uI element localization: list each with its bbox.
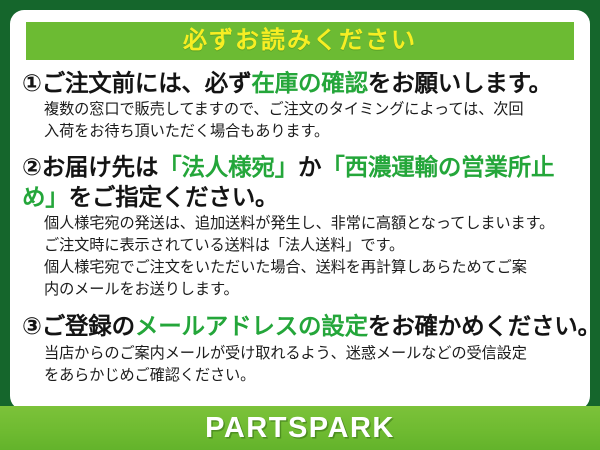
notice-item-2-heading-part-4: をご指定ください。 — [69, 184, 279, 210]
brand-footer: PARTSPARK — [0, 406, 600, 450]
notice-item-1-body: 複数の窓口で販売してますので、ご注文のタイミングによっては、次回 入荷をお待ち頂… — [44, 99, 578, 143]
notice-frame: 必ずお読みください ①ご注文前には、必ず在庫の確認をお願いします。 複数の窓口で… — [0, 0, 600, 450]
notice-item-2-body-line-1: ご注文時に表示されている送料は「法人送料」です。 — [44, 235, 578, 257]
notice-item-2-heading-part-2: か — [298, 154, 321, 180]
notice-item-3-heading-highlight: メールアドレスの設定 — [135, 313, 368, 339]
notice-title: 必ずお読みください — [183, 29, 417, 53]
notice-item-1-heading-highlight: 在庫の確認 — [251, 70, 368, 96]
notice-item-2-body-line-3: 内のメールをお送りします。 — [44, 279, 578, 301]
notice-item-2: ②お届け先は「法人様宛」か「西濃運輸の営業所止め」をご指定ください。 個人様宅宛… — [22, 152, 578, 301]
notice-item-3-heading: ③ご登録のメールアドレスの設定をお確かめください。 — [22, 311, 578, 341]
notice-item-3-body-line-1: をあらかじめご確認ください。 — [44, 365, 578, 387]
notice-item-1: ①ご注文前には、必ず在庫の確認をお願いします。 複数の窓口で販売してますので、ご… — [22, 68, 578, 143]
brand-name: PARTSPARK — [205, 414, 395, 443]
title-banner: 必ずお読みください — [26, 22, 574, 60]
notice-item-2-heading-highlight-1: 「法人様宛」 — [158, 154, 298, 180]
notice-item-3-heading-part-0: ③ご登録の — [22, 313, 135, 339]
notice-item-2-heading-part-0: ②お届け先は — [22, 154, 158, 180]
notice-item-3-heading-part-2: をお確かめください。 — [368, 313, 590, 339]
notice-item-3-body: 当店からのご案内メールが受け取れるよう、迷惑メールなどの受信設定 をあらかじめご… — [44, 343, 578, 387]
notice-list: ①ご注文前には、必ず在庫の確認をお願いします。 複数の窓口で販売してますので、ご… — [10, 68, 590, 393]
notice-card: 必ずお読みください ①ご注文前には、必ず在庫の確認をお願いします。 複数の窓口で… — [10, 10, 590, 410]
notice-item-2-body-line-2: 個人様宅宛でご注文をいただいた場合、送料を再計算しあらためてご案 — [44, 257, 578, 279]
notice-item-1-body-line-0: 複数の窓口で販売してますので、ご注文のタイミングによっては、次回 — [44, 99, 578, 121]
notice-item-2-body: 個人様宅宛の発送は、追加送料が発生し、非常に高額となってしまいます。 ご注文時に… — [44, 213, 578, 301]
notice-item-1-heading: ①ご注文前には、必ず在庫の確認をお願いします。 — [22, 68, 578, 98]
notice-item-3: ③ご登録のメールアドレスの設定をお確かめください。 当店からのご案内メールが受け… — [22, 311, 578, 386]
notice-item-1-body-line-1: 入荷をお待ち頂いただく場合もあります。 — [44, 121, 578, 143]
notice-item-1-heading-part-2: をお願いします。 — [368, 70, 552, 96]
notice-item-1-heading-part-0: ①ご注文前には、必ず — [22, 70, 251, 96]
notice-item-2-heading: ②お届け先は「法人様宛」か「西濃運輸の営業所止め」をご指定ください。 — [22, 152, 578, 212]
notice-item-3-body-line-0: 当店からのご案内メールが受け取れるよう、迷惑メールなどの受信設定 — [44, 343, 578, 365]
notice-item-2-body-line-0: 個人様宅宛の発送は、追加送料が発生し、非常に高額となってしまいます。 — [44, 213, 578, 235]
